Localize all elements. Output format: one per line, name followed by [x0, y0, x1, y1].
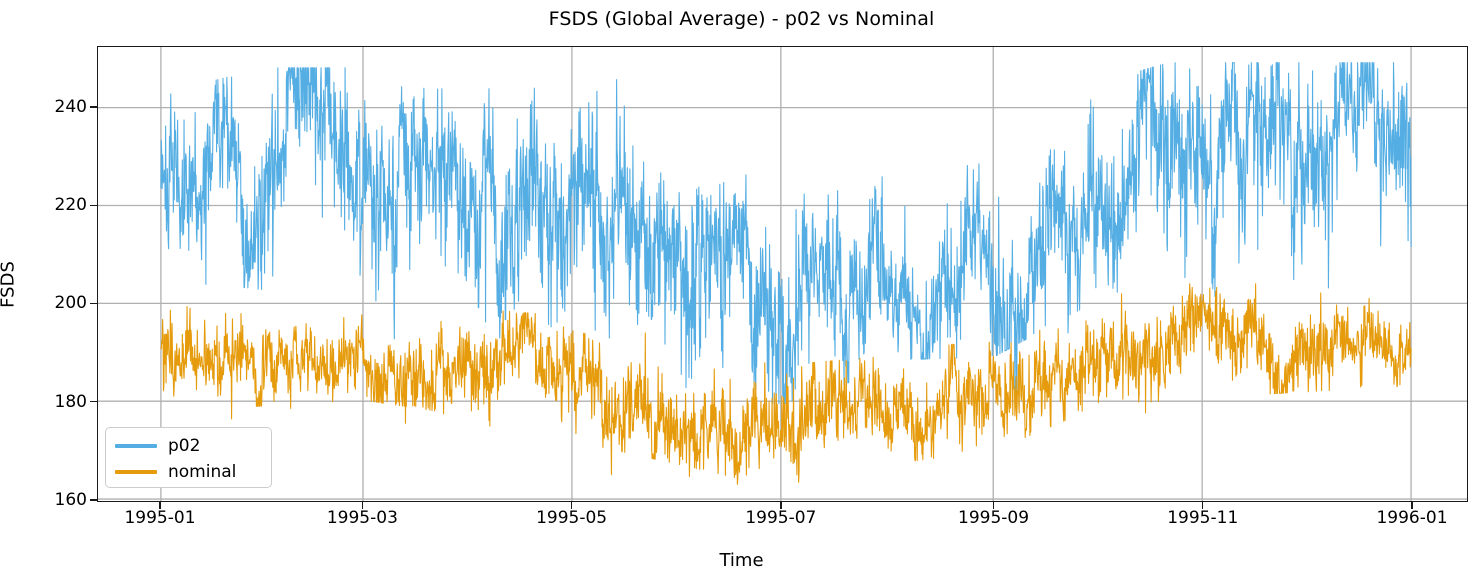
legend-label-nominal: nominal [168, 462, 236, 482]
series-plot-area [98, 47, 1467, 501]
plot-axes [97, 46, 1468, 502]
y-tickmark [90, 205, 97, 206]
x-tickmark [362, 502, 363, 509]
y-tickmark [90, 106, 97, 107]
x-tickmark [159, 502, 160, 509]
x-axis-label: Time [0, 550, 1483, 571]
x-tick-label: 1995-01 [124, 508, 195, 528]
x-tick-label: 1995-05 [536, 508, 607, 528]
y-tickmark [90, 499, 97, 500]
chart-legend[interactable]: p02 nominal [105, 427, 272, 488]
x-tick-label: 1995-03 [327, 508, 398, 528]
y-tick-label: 200 [55, 293, 87, 313]
x-tickmark [780, 502, 781, 509]
y-tick-label: 160 [55, 490, 87, 510]
y-tick-label: 220 [55, 195, 87, 215]
x-tick-label: 1995-09 [958, 508, 1029, 528]
x-tickmark [1411, 502, 1412, 509]
y-tick-label: 180 [55, 392, 87, 412]
x-tickmark [571, 502, 572, 509]
legend-item-nominal[interactable]: nominal [115, 459, 236, 485]
legend-label-p02: p02 [168, 436, 200, 456]
legend-swatch-nominal [115, 470, 157, 473]
legend-swatch-p02 [115, 444, 157, 447]
legend-item-p02[interactable]: p02 [115, 433, 200, 459]
x-tick-label: 1995-11 [1167, 508, 1238, 528]
x-tickmark [993, 502, 994, 509]
x-tick-label: 1995-07 [745, 508, 816, 528]
y-tickmark [90, 303, 97, 304]
y-tick-label: 240 [55, 97, 87, 117]
chart-title: FSDS (Global Average) - p02 vs Nominal [0, 8, 1483, 30]
chart-figure: FSDS (Global Average) - p02 vs Nominal F… [0, 0, 1483, 584]
x-tickmark [1202, 502, 1203, 509]
y-tickmark [90, 401, 97, 402]
y-axis-tick-labels: 160180200220240 [0, 0, 87, 584]
x-tick-label: 1996-01 [1376, 508, 1447, 528]
